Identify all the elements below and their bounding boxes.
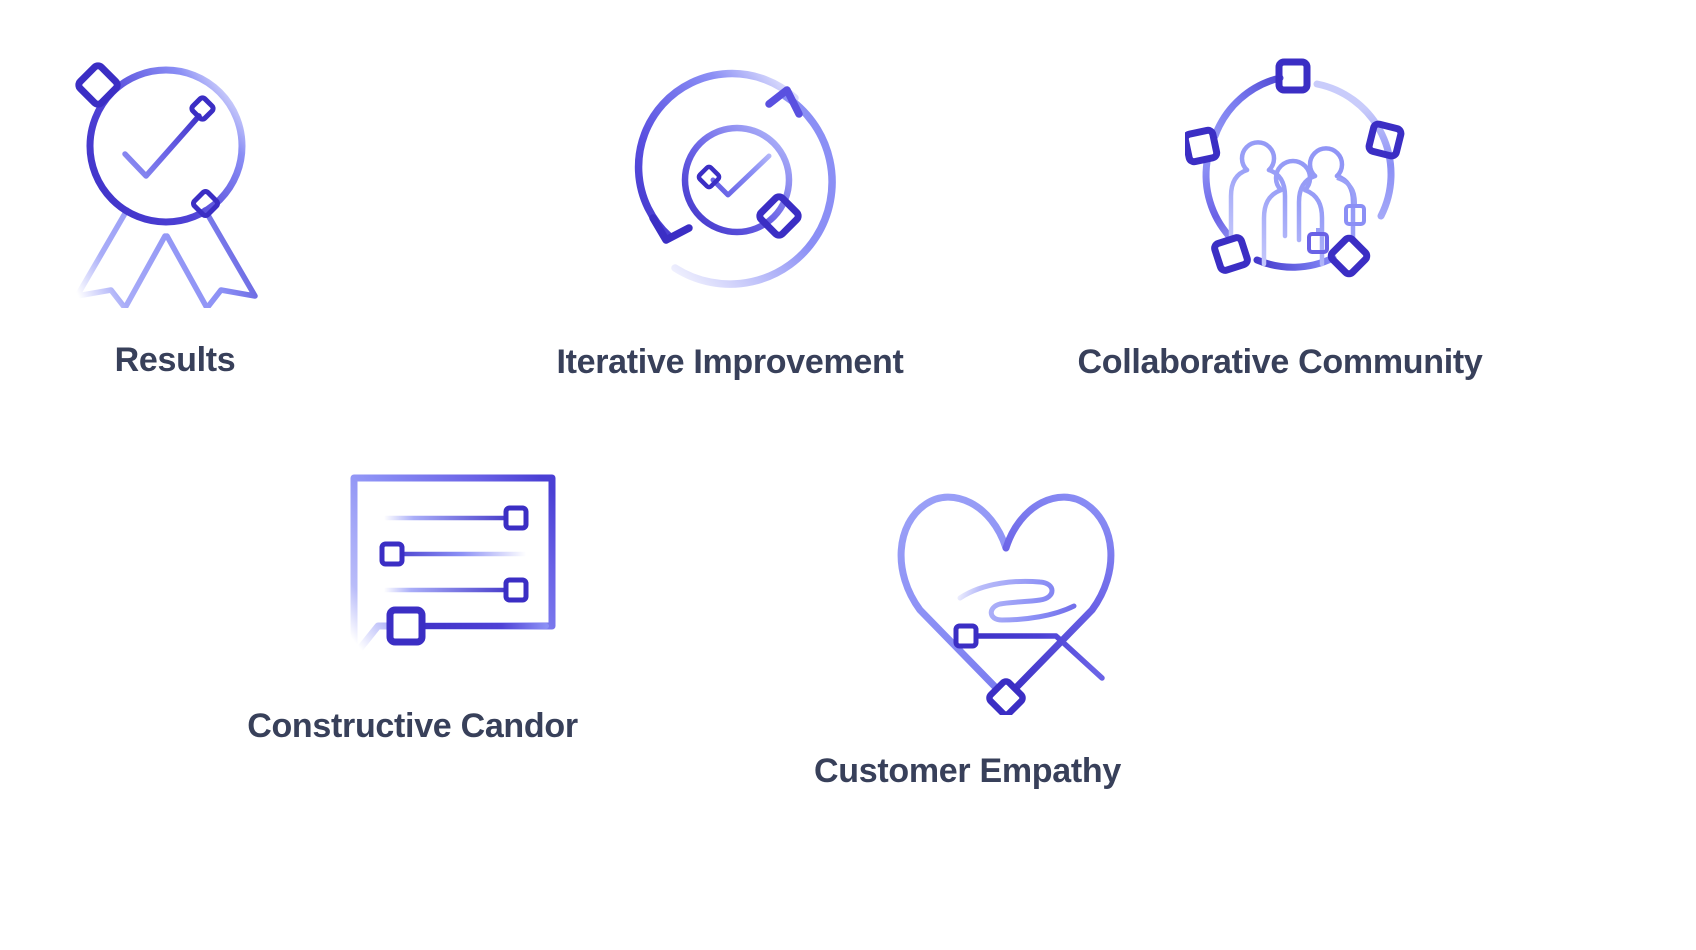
- award-ribbon-checkmark-icon: [69, 58, 299, 308]
- values-board: Results: [0, 0, 1696, 950]
- value-card-constructive-candor[interactable]: Constructive Candor: [275, 470, 625, 745]
- circular-arrows-checkmark-icon: [609, 58, 859, 308]
- value-label-customer-empathy: Customer Empathy: [728, 753, 1208, 790]
- heart-open-hand-icon: [888, 470, 1128, 715]
- value-card-collaborative-community[interactable]: Collaborative Community: [1140, 58, 1420, 381]
- speech-bubble-sliders-icon: [340, 470, 570, 670]
- value-label-constructive-candor: Constructive Candor: [163, 708, 663, 745]
- value-label-iterative-improvement: Iterative Improvement: [556, 344, 903, 381]
- value-card-results[interactable]: Results: [0, 58, 350, 379]
- people-network-circle-icon: [1185, 58, 1415, 308]
- value-card-iterative-improvement[interactable]: Iterative Improvement: [545, 58, 915, 381]
- value-label-results: Results: [115, 342, 236, 379]
- value-card-customer-empathy[interactable]: Customer Empathy: [830, 470, 1175, 790]
- value-label-collaborative-community: Collaborative Community: [1078, 344, 1483, 381]
